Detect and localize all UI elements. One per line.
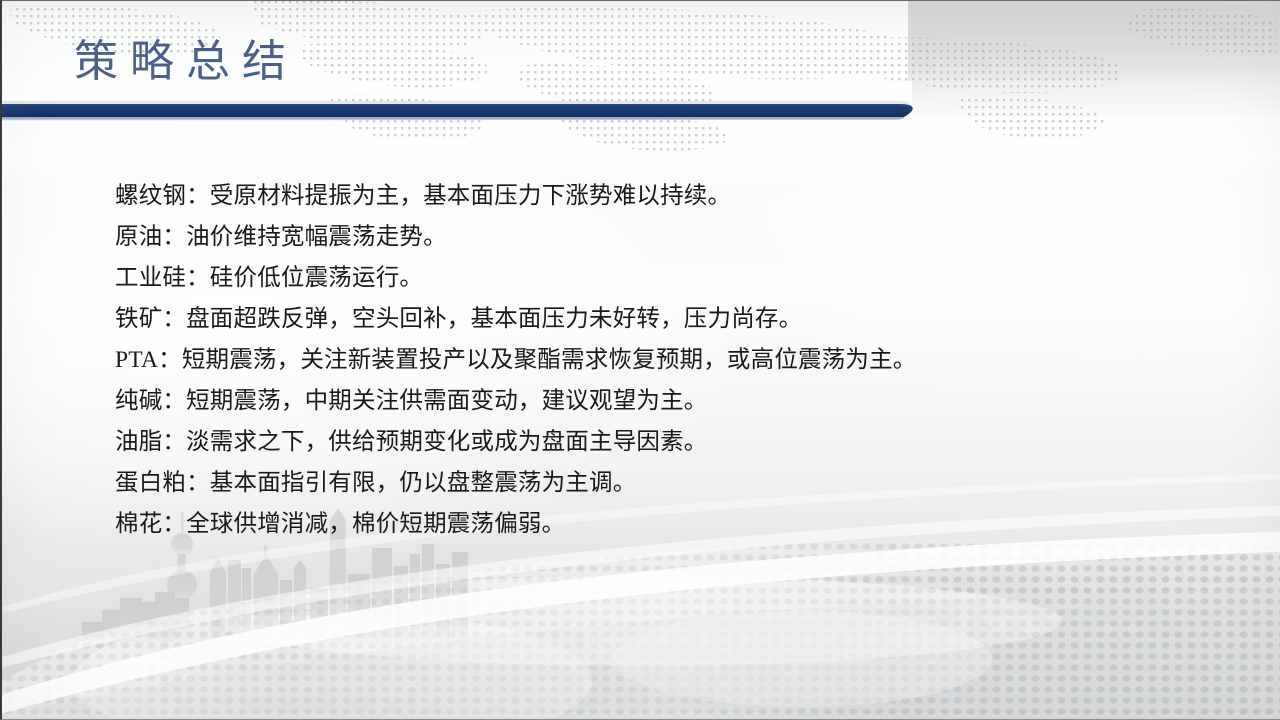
summary-line: 棉花：全球供增消减，棉价短期震荡偏弱。 bbox=[115, 504, 1115, 545]
summary-list: 螺纹钢：受原材料提振为主，基本面压力下涨势难以持续。 原油：油价维持宽幅震荡走势… bbox=[115, 176, 1115, 545]
summary-line: 螺纹钢：受原材料提振为主，基本面压力下涨势难以持续。 bbox=[115, 176, 1115, 217]
summary-line: 蛋白粕：基本面指引有限，仍以盘整震荡为主调。 bbox=[115, 463, 1115, 504]
summary-line: 工业硅：硅价低位震荡运行。 bbox=[115, 258, 1115, 299]
accent-bar bbox=[2, 99, 932, 125]
summary-line: 铁矿：盘面超跌反弹，空头回补，基本面压力未好转，压力尚存。 bbox=[115, 299, 1115, 340]
slide-canvas: 策略总结 螺纹钢：受原材料提振为主，基本面压力下涨势难以持续。 原油：油价维持宽… bbox=[0, 0, 1280, 720]
summary-line: 原油：油价维持宽幅震荡走势。 bbox=[115, 217, 1115, 258]
accent-bar-shape bbox=[2, 99, 932, 125]
summary-line: 纯碱：短期震荡，中期关注供需面变动，建议观望为主。 bbox=[115, 381, 1115, 422]
summary-line: PTA：短期震荡，关注新装置投产以及聚酯需求恢复预期，或高位震荡为主。 bbox=[115, 340, 1115, 381]
summary-line: 油脂：淡需求之下，供给预期变化或成为盘面主导因素。 bbox=[115, 422, 1115, 463]
page-title: 策略总结 bbox=[74, 34, 298, 90]
